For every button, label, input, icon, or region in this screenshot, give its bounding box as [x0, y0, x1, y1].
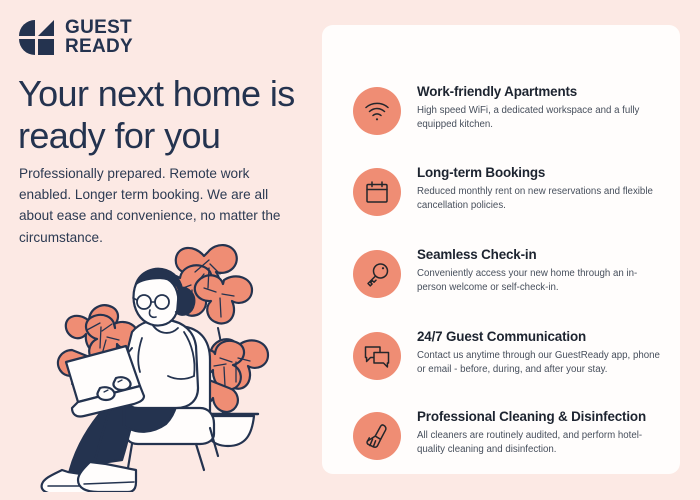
feature-description: Conveniently access your new home throug… [417, 267, 665, 295]
feature-list: Work-friendly Apartments High speed WiFi… [322, 25, 680, 474]
feature-title: Seamless Check-in [417, 247, 665, 264]
feature-text: Seamless Check-in Conveniently access yo… [401, 247, 665, 295]
woman-working-on-laptop-with-plants-illustration [28, 228, 314, 492]
broom-icon [353, 412, 401, 460]
feature-item-long-term-bookings[interactable]: Long-term Bookings Reduced monthly rent … [353, 165, 679, 216]
feature-title: Long-term Bookings [417, 165, 665, 182]
brand-logo[interactable]: GUEST READY [17, 19, 133, 56]
feature-item-seamless-check-in[interactable]: Seamless Check-in Conveniently access yo… [353, 247, 679, 298]
guestready-logo-icon [17, 20, 56, 55]
key-icon [353, 250, 401, 298]
chat-bubbles-icon [353, 332, 401, 380]
feature-title: 24/7 Guest Communication [417, 329, 665, 346]
features-panel: Work-friendly Apartments High speed WiFi… [322, 25, 680, 474]
feature-item-work-friendly-apartments[interactable]: Work-friendly Apartments High speed WiFi… [353, 84, 679, 135]
feature-text: Professional Cleaning & Disinfection All… [401, 409, 665, 457]
feature-item-guest-communication[interactable]: 24/7 Guest Communication Contact us anyt… [353, 329, 679, 380]
brand-name-line2: READY [65, 38, 133, 57]
calendar-icon [353, 168, 401, 216]
feature-title: Professional Cleaning & Disinfection [417, 409, 665, 426]
wifi-icon [353, 87, 401, 135]
brand-name-line1: GUEST [65, 19, 133, 38]
hero-column: GUEST READY Your next home is ready for … [0, 0, 320, 500]
brand-wordmark: GUEST READY [65, 19, 133, 56]
feature-text: 24/7 Guest Communication Contact us anyt… [401, 329, 665, 377]
feature-description: Reduced monthly rent on new reservations… [417, 185, 665, 213]
feature-description: All cleaners are routinely audited, and … [417, 429, 665, 457]
page-title: Your next home is ready for you [18, 73, 308, 158]
feature-text: Long-term Bookings Reduced monthly rent … [401, 165, 665, 213]
feature-description: Contact us anytime through our GuestRead… [417, 349, 665, 377]
promo-page: GUEST READY Your next home is ready for … [0, 0, 700, 500]
feature-title: Work-friendly Apartments [417, 84, 665, 101]
feature-item-professional-cleaning[interactable]: Professional Cleaning & Disinfection All… [353, 409, 679, 460]
feature-description: High speed WiFi, a dedicated workspace a… [417, 104, 665, 132]
feature-text: Work-friendly Apartments High speed WiFi… [401, 84, 665, 132]
